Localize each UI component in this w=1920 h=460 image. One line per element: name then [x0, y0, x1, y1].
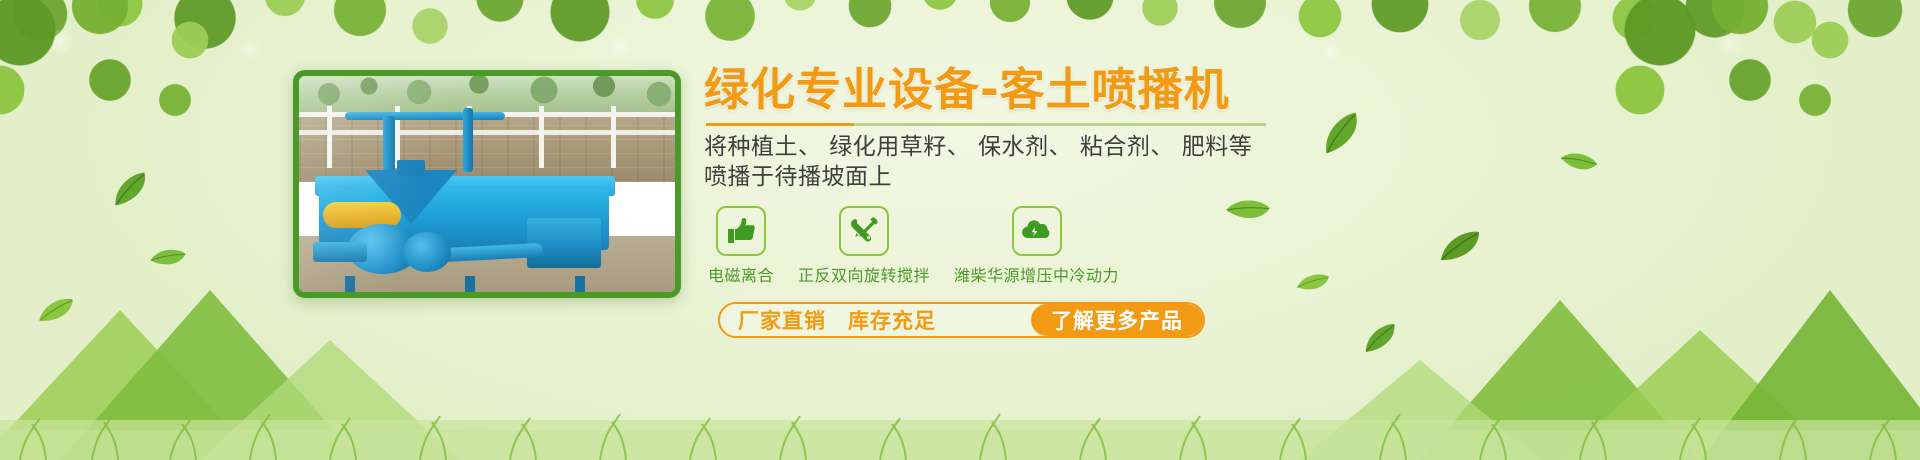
feature-label: 正反双向旋转搅拌	[798, 262, 930, 286]
foliage-cluster-left	[0, 0, 320, 160]
thumbs-up-icon	[716, 206, 766, 256]
feature-label: 潍柴华源增压中冷动力	[954, 262, 1119, 286]
floating-leaf-icon	[105, 168, 156, 210]
page-title: 绿化专业设备-客土喷播机	[704, 66, 1304, 115]
product-photo	[293, 70, 681, 298]
floating-leaf-icon	[1434, 227, 1487, 264]
cta-tag-stock: 库存充足	[848, 305, 936, 335]
floating-leaf-icon	[1312, 108, 1370, 159]
feature-label: 电磁离合	[708, 262, 774, 286]
feature-item-electromagnetic-clutch: 电磁离合	[708, 206, 774, 286]
title-divider	[706, 123, 1266, 126]
floating-leaf-icon	[1357, 320, 1403, 356]
learn-more-button[interactable]: 了解更多产品	[1031, 304, 1203, 336]
feature-item-weichai-engine: 潍柴华源增压中冷动力	[954, 206, 1119, 286]
cta-tagline: 厂家直销 库存充足	[720, 304, 1031, 336]
foliage-cluster-right	[1600, 0, 1920, 160]
floating-leaf-icon	[1557, 141, 1601, 180]
wrench-screwdriver-icon	[839, 206, 889, 256]
subtitle-line-2: 喷播于待播坡面上	[704, 162, 1304, 192]
engine-power-icon	[1012, 206, 1062, 256]
subtitle-line-1: 将种植土、 绿化用草籽、 保水剂、 粘合剂、 肥料等	[704, 132, 1304, 162]
feature-list: 电磁离合 正反双向旋转搅拌	[704, 206, 1304, 286]
floating-leaf-icon	[35, 295, 78, 324]
feature-item-bidirectional-mixing: 正反双向旋转搅拌	[798, 206, 930, 286]
cta-tag-direct-sale: 厂家直销	[738, 305, 826, 335]
floating-leaf-icon	[148, 242, 188, 272]
cta-bar: 厂家直销 库存充足 了解更多产品	[718, 302, 1205, 338]
promo-banner: 绿化专业设备-客土喷播机 将种植土、 绿化用草籽、 保水剂、 粘合剂、 肥料等 …	[0, 0, 1920, 460]
banner-content: 绿化专业设备-客土喷播机 将种植土、 绿化用草籽、 保水剂、 粘合剂、 肥料等 …	[704, 66, 1304, 338]
grass-strip-decoration	[0, 374, 1920, 460]
